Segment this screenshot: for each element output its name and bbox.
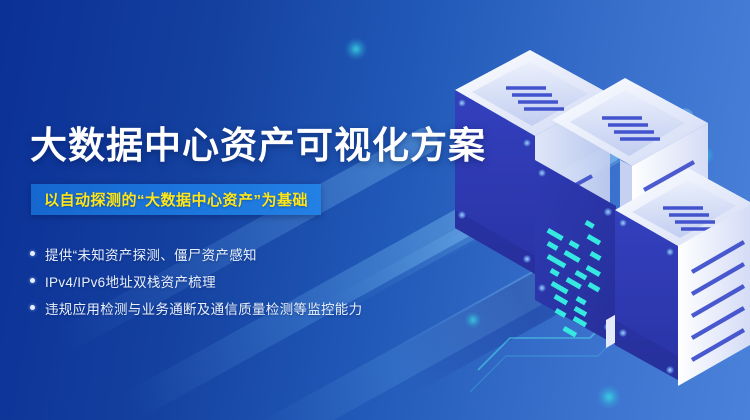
- page-title: 大数据中心资产可视化方案: [30, 123, 486, 169]
- bullet-dot-icon: [30, 251, 35, 256]
- text-content-block: 大数据中心资产可视化方案 以自动探测的“大数据中心资产”为基础 提供“未知资产探…: [0, 0, 470, 420]
- bullet-dot-icon: [30, 278, 35, 283]
- feature-bullet-list: 提供“未知资产探测、僵尸资产感知 IPv4/IPv6地址双栈资产梳理 违规应用检…: [30, 240, 460, 321]
- promo-banner: 大数据中心资产可视化方案 以自动探测的“大数据中心资产”为基础 提供“未知资产探…: [0, 0, 750, 420]
- list-item-label: 违规应用检测与业务通断及通信质量检测等监控能力: [45, 298, 362, 318]
- list-item: 违规应用检测与业务通断及通信质量检测等监控能力: [30, 294, 460, 321]
- bullet-dot-icon: [30, 305, 35, 310]
- list-item: IPv4/IPv6地址双栈资产梳理: [30, 267, 460, 294]
- list-item-label: IPv4/IPv6地址双栈资产梳理: [45, 271, 216, 291]
- list-item: 提供“未知资产探测、僵尸资产感知: [30, 240, 460, 267]
- subtitle-banner: 以自动探测的“大数据中心资产”为基础: [31, 184, 321, 215]
- subtitle-banner-label: 以自动探测的“大数据中心资产”为基础: [44, 189, 308, 210]
- server-right-front: [615, 168, 750, 386]
- list-item-label: 提供“未知资产探测、僵尸资产感知: [45, 244, 257, 264]
